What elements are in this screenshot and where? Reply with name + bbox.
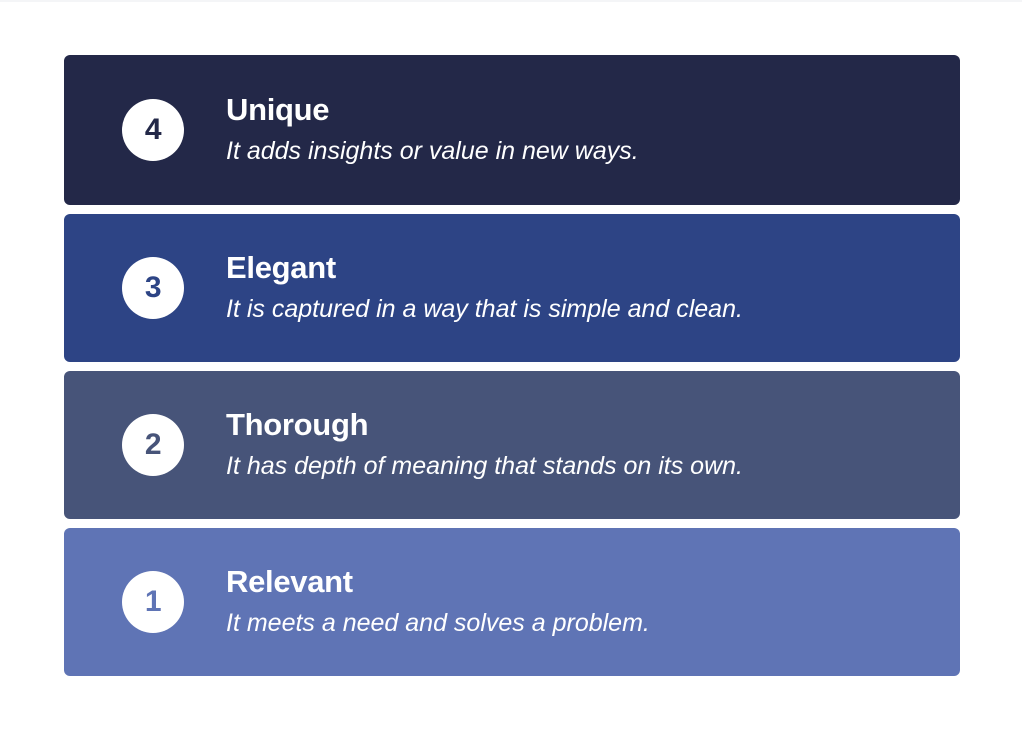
rank-number: 2: [145, 430, 161, 460]
card-text-group: Thorough It has depth of meaning that st…: [226, 408, 743, 482]
card-description: It is captured in a way that is simple a…: [226, 294, 743, 325]
rank-badge-circle: 2: [122, 414, 184, 476]
rank-number: 1: [145, 587, 161, 617]
card-title: Unique: [226, 93, 639, 128]
ranked-card-stack: 4 Unique It adds insights or value in ne…: [64, 55, 960, 676]
rank-badge-circle: 4: [122, 99, 184, 161]
rank-badge-circle: 1: [122, 571, 184, 633]
top-hairline-divider: [0, 0, 1022, 2]
rank-number: 4: [145, 115, 161, 145]
card-description: It meets a need and solves a problem.: [226, 608, 650, 639]
ranked-card-1[interactable]: 1 Relevant It meets a need and solves a …: [64, 528, 960, 676]
card-text-group: Elegant It is captured in a way that is …: [226, 251, 743, 325]
rank-number: 3: [145, 273, 161, 303]
ranked-card-4[interactable]: 4 Unique It adds insights or value in ne…: [64, 55, 960, 205]
card-description: It adds insights or value in new ways.: [226, 136, 639, 167]
card-title: Relevant: [226, 565, 650, 600]
card-title: Elegant: [226, 251, 743, 286]
card-description: It has depth of meaning that stands on i…: [226, 451, 743, 482]
rank-badge-circle: 3: [122, 257, 184, 319]
card-title: Thorough: [226, 408, 743, 443]
ranked-card-3[interactable]: 3 Elegant It is captured in a way that i…: [64, 214, 960, 362]
card-text-group: Relevant It meets a need and solves a pr…: [226, 565, 650, 639]
ranked-card-2[interactable]: 2 Thorough It has depth of meaning that …: [64, 371, 960, 519]
card-text-group: Unique It adds insights or value in new …: [226, 93, 639, 167]
